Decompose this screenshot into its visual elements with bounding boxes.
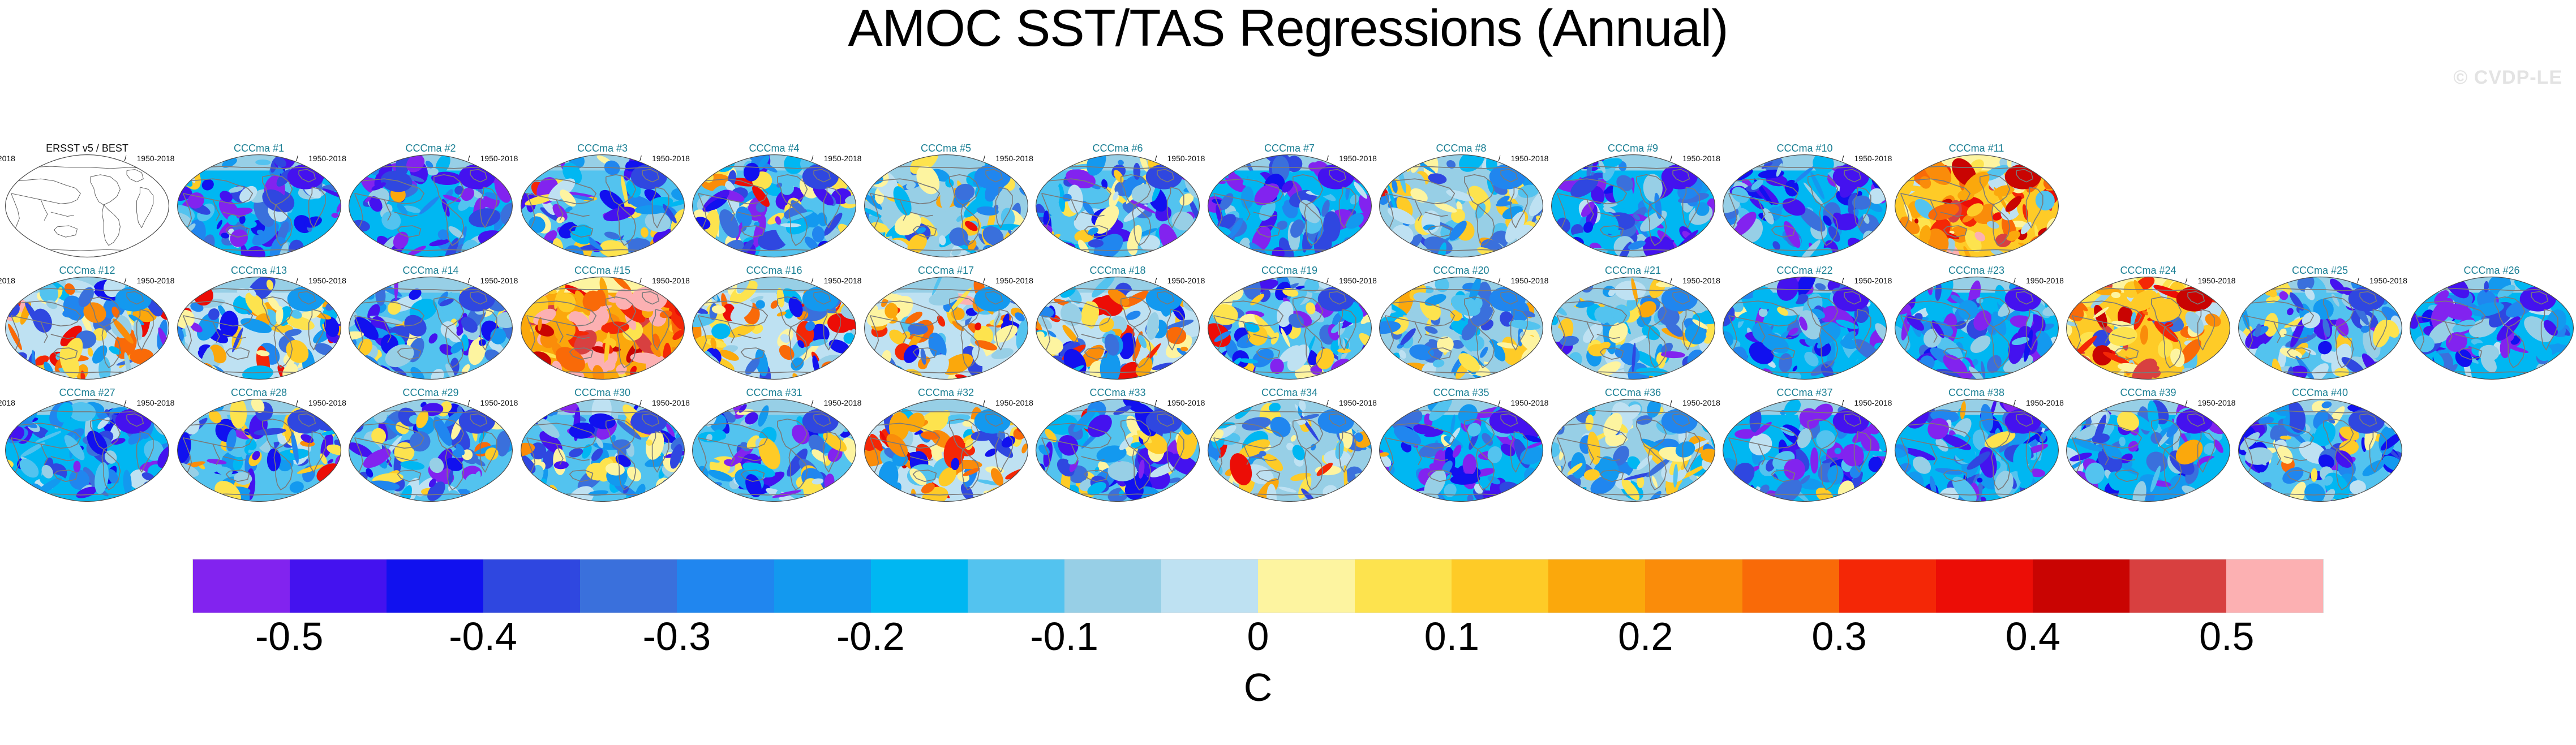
globe-map bbox=[1207, 276, 1372, 380]
panel-title: CCCma #15 bbox=[520, 265, 685, 277]
panel-title: CCCma #32 bbox=[864, 387, 1029, 399]
panel-title: CCCma #3 bbox=[520, 143, 685, 154]
colorbar-ticks: -0.5-0.4-0.3-0.2-0.100.10.20.30.40.5 bbox=[192, 617, 2324, 662]
panel-period-label: 1950-2018 bbox=[480, 154, 518, 163]
page-title: AMOC SST/TAS Regressions (Annual) bbox=[0, 2, 2576, 54]
colorbar-swatch bbox=[968, 559, 1064, 613]
panel-title: CCCma #27 bbox=[5, 387, 170, 399]
panel-separator: / bbox=[1670, 276, 1672, 285]
globe-map bbox=[520, 154, 685, 258]
panel-period-label: 1950-2018 bbox=[652, 154, 690, 163]
panel-period-label: 1950-2018 bbox=[1511, 154, 1549, 163]
panel-period-label: 1950-2018 bbox=[1167, 154, 1205, 163]
globe-map bbox=[1551, 398, 1716, 502]
panel-title: CCCma #26 bbox=[2409, 265, 2574, 277]
colorbar-tick-label: 0.2 bbox=[1618, 617, 1673, 656]
panel-separator: / bbox=[1155, 276, 1157, 285]
panel-separator: / bbox=[1670, 154, 1672, 163]
figure-canvas: AMOC SST/TAS Regressions (Annual) © CVDP… bbox=[0, 0, 2576, 745]
globe-map bbox=[1551, 154, 1716, 258]
colorbar-swatch bbox=[580, 559, 677, 613]
panel-title: CCCma #5 bbox=[864, 143, 1029, 154]
panel-separator: / bbox=[124, 276, 127, 285]
globe-map bbox=[864, 276, 1029, 380]
panel-period-label: 1950-2018 bbox=[652, 398, 690, 407]
colorbar-swatch bbox=[2130, 559, 2226, 613]
globe-map bbox=[5, 276, 170, 380]
panel-title: CCCma #17 bbox=[864, 265, 1029, 277]
globe-map bbox=[692, 398, 857, 502]
panel-separator: / bbox=[639, 398, 642, 407]
globe-map bbox=[1379, 154, 1544, 258]
panel-separator: / bbox=[639, 276, 642, 285]
globe-map bbox=[1894, 276, 2059, 380]
panel-separator: / bbox=[2357, 276, 2359, 285]
panel-period-label: 1950-2018 bbox=[995, 276, 1033, 285]
globe-map bbox=[1379, 398, 1544, 502]
panel-separator: / bbox=[1326, 154, 1329, 163]
panel-period-label: 1950-2018 bbox=[1854, 276, 1892, 285]
panel-title: CCCma #37 bbox=[1722, 387, 1887, 399]
globe-map bbox=[520, 398, 685, 502]
panel-separator: / bbox=[1326, 398, 1329, 407]
panel-separator: / bbox=[1326, 276, 1329, 285]
panel-period-label: 1950-2018 bbox=[1682, 398, 1720, 407]
panel-title: CCCma #19 bbox=[1207, 265, 1372, 277]
panel-title: CCCma #4 bbox=[692, 143, 857, 154]
colorbar-swatch bbox=[1452, 559, 1548, 613]
panel-separator: / bbox=[639, 154, 642, 163]
colorbar-tick-label: 0.4 bbox=[2006, 617, 2060, 656]
panel-period-label: 1950-2018 bbox=[1682, 276, 1720, 285]
panel-title: CCCma #10 bbox=[1722, 143, 1887, 154]
colorbar-swatch bbox=[483, 559, 580, 613]
panel-title: CCCma #28 bbox=[177, 387, 342, 399]
colorbar-tick-label: 0.5 bbox=[2199, 617, 2254, 656]
panel-period-label: 1950-2018 bbox=[1511, 276, 1549, 285]
globe-map bbox=[177, 154, 342, 258]
colorbar-tick-label: -0.2 bbox=[836, 617, 905, 656]
panel-period-label: 1950-2018 bbox=[1682, 154, 1720, 163]
colorbar-swatch bbox=[774, 559, 871, 613]
panel-separator: / bbox=[1155, 154, 1157, 163]
panel-separator: / bbox=[296, 154, 298, 163]
colorbar-tick-label: -0.1 bbox=[1030, 617, 1098, 656]
panel-title: CCCma #38 bbox=[1894, 387, 2059, 399]
panel-title: CCCma #40 bbox=[2238, 387, 2403, 399]
panel-period-label: 1950-2018 bbox=[480, 398, 518, 407]
globe-map bbox=[864, 398, 1029, 502]
panel-separator: / bbox=[1842, 154, 1844, 163]
colorbar-swatch bbox=[1548, 559, 1645, 613]
colorbar-swatch bbox=[1064, 559, 1161, 613]
panel-title: CCCma #11 bbox=[1894, 143, 2059, 154]
panel-period-label: 1950-2018 bbox=[824, 276, 862, 285]
panel-period-label: 1950-2018 bbox=[137, 398, 175, 407]
globe-map bbox=[1035, 398, 1200, 502]
panel-separator: / bbox=[812, 154, 814, 163]
globe-map bbox=[5, 154, 170, 258]
panel-title: CCCma #21 bbox=[1551, 265, 1716, 277]
panel-separator: / bbox=[1670, 398, 1672, 407]
globe-map bbox=[1035, 154, 1200, 258]
panel-title: CCCma #9 bbox=[1551, 143, 1716, 154]
colorbar-swatch bbox=[290, 559, 387, 613]
colorbar-tick-label: 0.3 bbox=[1811, 617, 1866, 656]
panel-model[interactable]: CCCma #40/1950-2018 bbox=[2238, 387, 2403, 502]
panel-period-label: 1950-2018 bbox=[1854, 398, 1892, 407]
colorbar-tick-label: -0.3 bbox=[643, 617, 711, 656]
panel-period-label: 1950-2018 bbox=[1167, 276, 1205, 285]
colorbar-swatch bbox=[1355, 559, 1452, 613]
colorbar-swatch bbox=[1645, 559, 1742, 613]
panel-separator: / bbox=[983, 154, 985, 163]
colorbar-swatch bbox=[193, 559, 290, 613]
globe-map bbox=[1207, 398, 1372, 502]
panel-title: ERSST v5 / BEST bbox=[5, 143, 170, 154]
globe-map bbox=[1722, 276, 1887, 380]
globe-map bbox=[1379, 276, 1544, 380]
panel-period-label: 1950-2018 bbox=[824, 154, 862, 163]
panel-period-label: 1950-2018 bbox=[1854, 154, 1892, 163]
colorbar-swatch bbox=[1258, 559, 1355, 613]
panel-period-label: 1950-2018 bbox=[2369, 276, 2407, 285]
globe-map bbox=[348, 398, 513, 502]
globe-map bbox=[177, 398, 342, 502]
panel-period-label: 1950-2018 bbox=[480, 276, 518, 285]
panel-period-label: 1950-2018 bbox=[2026, 276, 2064, 285]
panel-title: CCCma #16 bbox=[692, 265, 857, 277]
colorbar-tick-label: -0.5 bbox=[255, 617, 324, 656]
panel-title: CCCma #35 bbox=[1379, 387, 1544, 399]
panel-period-label: 1950-2018 bbox=[2026, 398, 2064, 407]
panel-period-label: 1950-2018 bbox=[1339, 276, 1377, 285]
panel-title: CCCma #7 bbox=[1207, 143, 1372, 154]
globe-map bbox=[864, 154, 1029, 258]
globe-map bbox=[692, 276, 857, 380]
panel-period-label: 1950-2018 bbox=[1167, 398, 1205, 407]
panel-title: CCCma #31 bbox=[692, 387, 857, 399]
panel-title: CCCma #39 bbox=[2066, 387, 2231, 399]
globe-map bbox=[1894, 398, 2059, 502]
panel-period-label: 1950-2018 bbox=[308, 398, 346, 407]
panel-period-label: 1950-2018 bbox=[2198, 398, 2236, 407]
panel-title: CCCma #8 bbox=[1379, 143, 1544, 154]
globe-map bbox=[1722, 154, 1887, 258]
globe-map bbox=[2409, 276, 2574, 380]
panel-period-label: 1950-2018 bbox=[1339, 398, 1377, 407]
panel-separator: / bbox=[296, 276, 298, 285]
panel-period-label: 1950-2018 bbox=[1511, 398, 1549, 407]
panel-title: CCCma #29 bbox=[348, 387, 513, 399]
colorbar-tick-label: -0.4 bbox=[449, 617, 517, 656]
panel-title: CCCma #14 bbox=[348, 265, 513, 277]
colorbar-swatch bbox=[871, 559, 968, 613]
colorbar-swatch bbox=[677, 559, 774, 613]
panel-separator: / bbox=[468, 276, 470, 285]
panel-title: CCCma #6 bbox=[1035, 143, 1200, 154]
panel-separator: / bbox=[1842, 276, 1844, 285]
panel-separator: / bbox=[2013, 276, 2016, 285]
panel-title: CCCma #36 bbox=[1551, 387, 1716, 399]
panel-model[interactable]: CCCma #26/1950-2018 bbox=[2409, 265, 2574, 380]
panel-separator: / bbox=[812, 276, 814, 285]
panel-separator: / bbox=[983, 276, 985, 285]
panel-title: CCCma #18 bbox=[1035, 265, 1200, 277]
globe-map bbox=[177, 276, 342, 380]
panel-separator: / bbox=[468, 398, 470, 407]
colorbar-swatch bbox=[387, 559, 483, 613]
globe-map bbox=[1722, 398, 1887, 502]
globe-map bbox=[1207, 154, 1372, 258]
colorbar-tick-label: 0 bbox=[1247, 617, 1269, 656]
globe-map bbox=[348, 276, 513, 380]
colorbar bbox=[192, 559, 2324, 613]
panel-separator: / bbox=[468, 154, 470, 163]
panel-title: CCCma #34 bbox=[1207, 387, 1372, 399]
panel-separator: / bbox=[2013, 398, 2016, 407]
colorbar-swatch bbox=[1839, 559, 1936, 613]
colorbar-unit-label: C bbox=[192, 668, 2324, 707]
panel-separator: / bbox=[812, 398, 814, 407]
globe-map bbox=[2066, 398, 2231, 502]
panel-title: CCCma #30 bbox=[520, 387, 685, 399]
panel-separator: / bbox=[296, 398, 298, 407]
panel-model[interactable]: CCCma #11/1950-2018 bbox=[1894, 143, 2059, 258]
panel-title: CCCma #1 bbox=[177, 143, 342, 154]
panel-period-label: 1950-2018 bbox=[308, 154, 346, 163]
cvdp-watermark: © CVDP-LE bbox=[2453, 67, 2562, 89]
globe-map bbox=[2238, 276, 2403, 380]
panel-separator: / bbox=[983, 398, 985, 407]
panel-separator: / bbox=[2186, 398, 2188, 407]
panel-separator: / bbox=[124, 398, 127, 407]
panel-separator: / bbox=[124, 154, 127, 163]
panel-title: CCCma #33 bbox=[1035, 387, 1200, 399]
panel-period-label: 1950-2018 bbox=[2198, 276, 2236, 285]
panel-title: CCCma #13 bbox=[177, 265, 342, 277]
globe-map bbox=[1551, 276, 1716, 380]
colorbar-swatch bbox=[2226, 559, 2323, 613]
panel-separator: / bbox=[2186, 276, 2188, 285]
globe-map bbox=[520, 276, 685, 380]
panel-separator: / bbox=[1155, 398, 1157, 407]
panel-period-label: 1950-2018 bbox=[1339, 154, 1377, 163]
globe-map bbox=[1894, 154, 2059, 258]
panel-period-label: 1950-2018 bbox=[824, 398, 862, 407]
panel-period-label: 1950-2018 bbox=[308, 276, 346, 285]
colorbar-swatch bbox=[1936, 559, 2033, 613]
panel-title: CCCma #24 bbox=[2066, 265, 2231, 277]
panel-title: CCCma #20 bbox=[1379, 265, 1544, 277]
colorbar-swatch bbox=[1161, 559, 1258, 613]
globe-map bbox=[5, 398, 170, 502]
panel-separator: / bbox=[1499, 154, 1501, 163]
globe-map bbox=[2066, 276, 2231, 380]
panel-title: CCCma #23 bbox=[1894, 265, 2059, 277]
panel-period-label: 1950-2018 bbox=[137, 276, 175, 285]
panel-title: CCCma #12 bbox=[5, 265, 170, 277]
panel-title: CCCma #2 bbox=[348, 143, 513, 154]
panel-separator: / bbox=[1499, 398, 1501, 407]
panel-title: CCCma #25 bbox=[2238, 265, 2403, 277]
panel-title: CCCma #22 bbox=[1722, 265, 1887, 277]
panel-period-label: 1950-2018 bbox=[652, 276, 690, 285]
panel-period-label: 1950-2018 bbox=[995, 154, 1033, 163]
globe-map bbox=[348, 154, 513, 258]
globe-map bbox=[1035, 276, 1200, 380]
globe-map bbox=[692, 154, 857, 258]
panel-separator: / bbox=[1499, 276, 1501, 285]
colorbar-swatch bbox=[1742, 559, 1839, 613]
colorbar-swatch bbox=[2033, 559, 2130, 613]
globe-map bbox=[2238, 398, 2403, 502]
panel-period-label: 1950-2018 bbox=[137, 154, 175, 163]
panel-separator: / bbox=[1842, 398, 1844, 407]
colorbar-tick-label: 0.1 bbox=[1424, 617, 1479, 656]
panel-period-label: 1950-2018 bbox=[995, 398, 1033, 407]
